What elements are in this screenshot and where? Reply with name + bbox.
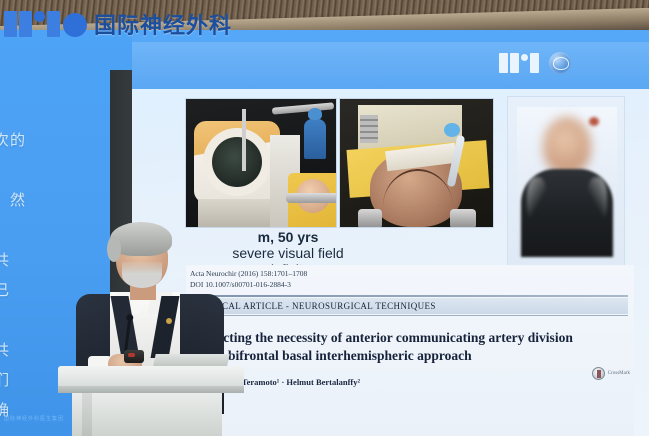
logo-bar [4,11,17,37]
presenter-remote[interactable] [124,350,144,363]
article-type-band: CLINICAL ARTICLE - NEUROSURGICAL TECHNIQ… [188,298,628,314]
head-clamp [286,193,337,203]
channel-logo-overlay: 国际神经外科 [4,8,232,40]
globe-emblem-icon [549,52,571,74]
crossmark-label: CrossMark [608,371,630,376]
portrait-frame [517,107,617,257]
logo-bar [47,11,60,37]
shoulder-highlight-right [587,177,607,223]
subtitle-line: 它，然 [0,186,98,216]
inc-logo-icon [4,11,87,37]
equipment-keypad [360,115,378,143]
intraoperative-mri-photo [185,98,337,228]
crossmark-badge: CrossMark [592,367,630,380]
shoulder-highlight-left [527,177,547,223]
podium-body [72,393,222,436]
podium-shadow [82,393,92,436]
surgical-light-arm [272,102,334,114]
iv-pole [242,109,246,171]
podium-top [58,366,244,388]
subtitle-footer-text: 国际神经外科医生集团 [4,415,64,422]
article-title: Predicting the necessity of anterior com… [192,329,622,365]
logo-bar [19,11,32,37]
article-authors: chiro Teramoto¹ · Helmut Bertalanffy² [210,377,610,387]
subtitle-line: 一次的 [0,126,98,156]
screenshot-stage: 一次的 肿 它，然 的。 磁共 你已 除 磁共 我们 中确 国际神经外科医生集团 [0,0,649,436]
divider-rule-top [188,295,628,297]
patient-head-closeup-photo [339,98,494,228]
divider-rule-bottom [188,315,628,316]
slide-header [132,42,649,89]
crossmark-icon [592,367,605,380]
inc-logo-icon [499,53,539,73]
article-title-line2: in the bifrontal basal interhemispheric … [192,347,622,365]
article-title-line1: Predicting the necessity of anterior com… [192,329,622,347]
head-clamp-right [450,209,476,228]
or-staff-figure [304,119,326,159]
logo-dot [34,11,45,22]
speaker-beard [122,262,162,288]
background-mark [589,117,599,126]
journal-article-block: Acta Neurochir (2016) 158:1701–1708 DOI … [186,265,634,436]
logo-circle [63,13,87,37]
head-clamp-left [358,209,382,228]
speaker-hair [110,222,172,256]
lapel-pin [166,318,172,324]
subtitle-line: 肿 [0,156,98,186]
patient-portrait-photo [507,96,625,266]
podium-lip [58,386,244,393]
podium [58,366,244,436]
blurred-face [543,117,591,175]
mri-bore [212,137,262,187]
brand-name-cn: 国际神经外科 [94,8,232,40]
